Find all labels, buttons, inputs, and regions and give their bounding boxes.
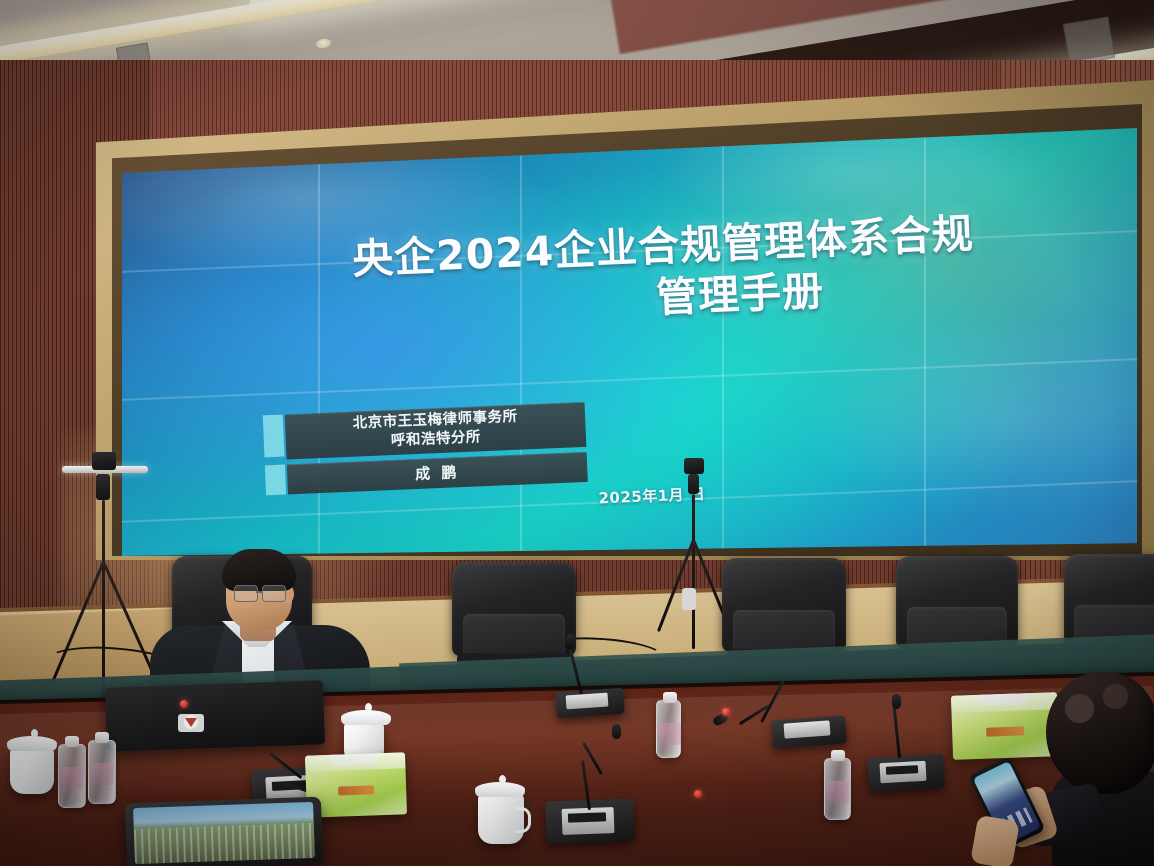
slide-presenter-plate: 成 鹏 bbox=[287, 452, 588, 495]
teacup-3[interactable] bbox=[478, 794, 524, 844]
tripod-center-leg-a bbox=[657, 539, 695, 632]
tripod-left-mount bbox=[96, 474, 110, 500]
microphone-3-capsule bbox=[566, 634, 575, 649]
water-bottle-1-label bbox=[61, 767, 83, 789]
teacup-3-handle bbox=[515, 807, 531, 833]
water-bottle-2[interactable] bbox=[88, 740, 116, 804]
attendee-hand-left bbox=[970, 815, 1020, 866]
tripod-left-leg-a bbox=[51, 561, 105, 682]
video-wall-screen[interactable]: 央企2024企业合规管理体系合规 管理手册 北京市王玉梅律师事务所 呼和浩特分所… bbox=[122, 128, 1137, 556]
tissue-box-right-tissue bbox=[978, 692, 1027, 706]
tripod-center-camera-head bbox=[684, 458, 704, 474]
teacup-3-lid bbox=[475, 782, 525, 797]
teacup-2-lid bbox=[341, 710, 391, 725]
presenter-eyeglasses bbox=[234, 585, 286, 600]
tripod-center-control-box bbox=[682, 588, 696, 610]
attendee-hair bbox=[1046, 672, 1154, 794]
ceiling-vent-4 bbox=[1063, 16, 1115, 65]
tripod-center-leg-center bbox=[692, 494, 695, 649]
laptop-front-display[interactable] bbox=[133, 801, 315, 864]
presenter-laptop-indicator bbox=[180, 700, 188, 708]
slide-accent-tab-org bbox=[263, 415, 285, 458]
laptop-front-wallpaper bbox=[134, 823, 315, 864]
tissue-box-left-logo bbox=[338, 786, 374, 796]
microphone-4-led bbox=[722, 708, 730, 716]
slide-title: 央企2024企业合规管理体系合规 管理手册 bbox=[247, 204, 1081, 340]
microphone-3-panel bbox=[566, 693, 609, 710]
water-bottle-1[interactable] bbox=[58, 744, 86, 808]
water-bottle-3[interactable] bbox=[656, 700, 681, 758]
microphone-4-panel bbox=[784, 720, 831, 738]
water-bottle-3-label bbox=[659, 723, 681, 745]
microphone-5-display bbox=[886, 765, 918, 775]
microphone-5-capsule bbox=[892, 694, 901, 709]
presenter-laptop-logo bbox=[178, 714, 204, 732]
tissue-box-right-logo bbox=[986, 727, 1024, 737]
presenter-laptop-lid[interactable] bbox=[105, 680, 325, 752]
teacup-1-lid bbox=[7, 736, 57, 751]
water-bottle-2-label bbox=[91, 763, 113, 785]
eyeglass-lens-right bbox=[262, 585, 286, 602]
eyeglass-lens-left bbox=[234, 585, 258, 602]
tripod-left-camera-head bbox=[92, 452, 116, 470]
tripod-center-mount bbox=[688, 474, 699, 494]
water-bottle-4[interactable] bbox=[824, 758, 851, 820]
presentation-slide: 央企2024企业合规管理体系合规 管理手册 北京市王玉梅律师事务所 呼和浩特分所… bbox=[122, 128, 1137, 556]
teacup-3-knob bbox=[499, 775, 506, 784]
teacup-1[interactable] bbox=[10, 748, 54, 794]
laptop-front[interactable] bbox=[125, 797, 323, 866]
microphone-2-led bbox=[694, 790, 702, 798]
slide-accent-tab-presenter bbox=[265, 465, 286, 496]
teacup-1-knob bbox=[31, 729, 38, 738]
tissue-box-left-tissue bbox=[331, 752, 378, 766]
teacup-2-knob bbox=[365, 703, 372, 712]
microphone-2-capsule bbox=[612, 724, 621, 739]
microphone-2-display bbox=[568, 812, 606, 822]
water-bottle-4-label bbox=[827, 781, 849, 803]
slide-organization-plate: 北京市王玉梅律师事务所 呼和浩特分所 bbox=[285, 402, 587, 460]
conference-room-photo: 央企2024企业合规管理体系合规 管理手册 北京市王玉梅律师事务所 呼和浩特分所… bbox=[0, 0, 1154, 866]
